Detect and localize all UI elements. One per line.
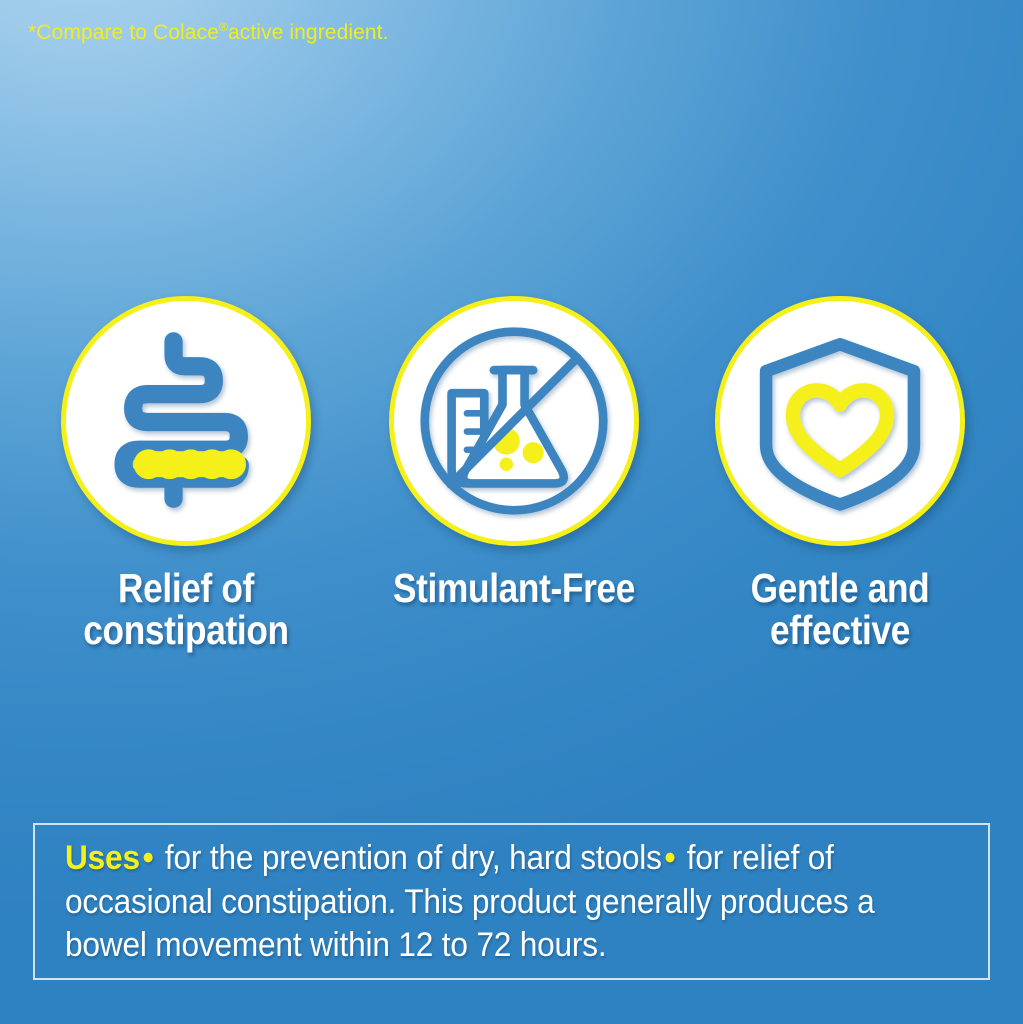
footnote-prefix: *Compare to Colace bbox=[28, 21, 219, 44]
footnote-compare-to-colace: *Compare to Colace®active ingredient. bbox=[28, 20, 389, 45]
feature-stimulant-free: Stimulant-Free bbox=[349, 296, 679, 610]
feature-badge bbox=[715, 296, 965, 546]
uses-bullet-1: • bbox=[140, 839, 156, 877]
uses-text: Uses• for the prevention of dry, hard st… bbox=[65, 837, 907, 968]
feature-label: Stimulant-Free bbox=[372, 568, 656, 610]
feature-badge bbox=[389, 296, 639, 546]
uses-bullet-2: • bbox=[662, 839, 678, 877]
infographic-page: *Compare to Colace®active ingredient. bbox=[0, 0, 1023, 1024]
uses-item-1: for the prevention of dry, hard stools bbox=[165, 839, 662, 877]
footnote-suffix: active ingredient. bbox=[228, 21, 389, 44]
intestine-icon bbox=[66, 301, 306, 541]
feature-badge bbox=[61, 296, 311, 546]
intestine-yellow-segment bbox=[134, 450, 245, 479]
feature-row: Relief of constipation bbox=[0, 296, 1023, 696]
feature-gentle-and-effective: Gentle and effective bbox=[675, 296, 1005, 652]
feature-label: Gentle and effective bbox=[698, 568, 982, 652]
uses-heading: Uses bbox=[65, 839, 140, 877]
registered-mark-icon: ® bbox=[219, 20, 228, 34]
no-stimulant-flask-icon bbox=[394, 301, 634, 541]
feature-label: Relief of constipation bbox=[44, 568, 328, 652]
uses-box: Uses• for the prevention of dry, hard st… bbox=[33, 823, 990, 980]
shield-heart-icon bbox=[720, 301, 960, 541]
feature-relief-of-constipation: Relief of constipation bbox=[21, 296, 351, 652]
